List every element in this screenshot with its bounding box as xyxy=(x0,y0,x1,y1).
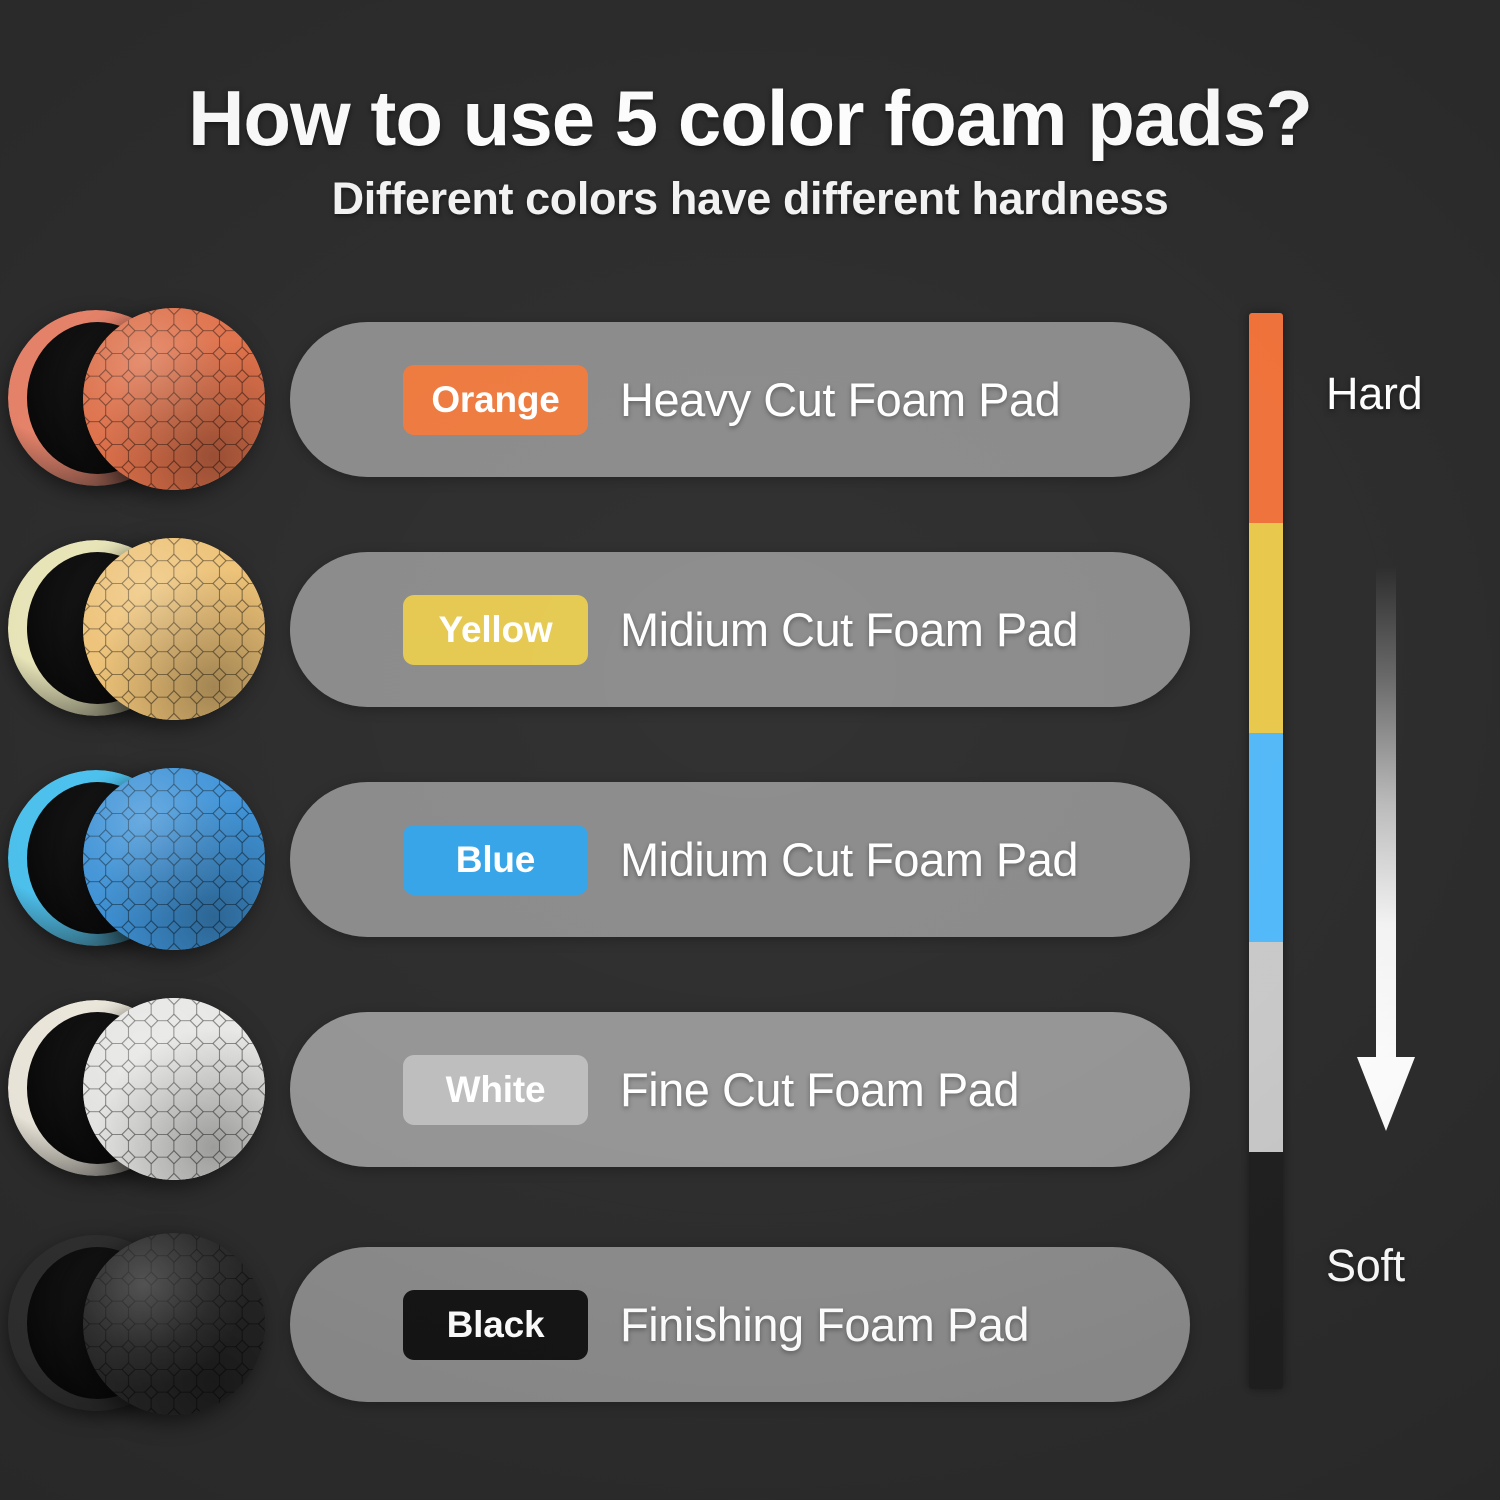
pad-row-pill: Yellow Midium Cut Foam Pad xyxy=(290,552,1190,707)
pad-row-blue: Blue Midium Cut Foam Pad xyxy=(0,760,1240,960)
color-badge-label: White xyxy=(446,1069,546,1111)
pad-front-disc xyxy=(83,308,265,490)
hardness-scale-bar xyxy=(1249,313,1283,1389)
pad-front-disc xyxy=(83,1233,265,1415)
scale-segment-orange xyxy=(1249,313,1283,523)
pad-name-label: Finishing Foam Pad xyxy=(620,1297,1029,1352)
pad-image-white xyxy=(0,990,300,1190)
scale-segment-blue xyxy=(1249,733,1283,943)
pad-name-label: Heavy Cut Foam Pad xyxy=(620,372,1060,427)
color-badge-yellow: Yellow xyxy=(403,595,588,665)
page-title: How to use 5 color foam pads? xyxy=(0,78,1500,159)
pad-name-label: Fine Cut Foam Pad xyxy=(620,1062,1019,1117)
color-badge-black: Black xyxy=(403,1290,588,1360)
scale-segment-yellow xyxy=(1249,523,1283,733)
pad-image-black xyxy=(0,1225,300,1425)
color-badge-label: Yellow xyxy=(439,609,553,651)
hardness-arrow-down-icon xyxy=(1327,565,1445,1140)
pad-row-pill: Blue Midium Cut Foam Pad xyxy=(290,782,1190,937)
pad-image-orange xyxy=(0,300,300,500)
pad-image-yellow xyxy=(0,530,300,730)
scale-segment-white xyxy=(1249,942,1283,1152)
color-badge-white: White xyxy=(403,1055,588,1125)
header: How to use 5 color foam pads? Different … xyxy=(0,78,1500,225)
pad-name-label: Midium Cut Foam Pad xyxy=(620,602,1078,657)
color-badge-label: Blue xyxy=(456,839,535,881)
pad-front-disc xyxy=(83,538,265,720)
color-badge-label: Orange xyxy=(431,379,559,421)
page-subtitle: Different colors have different hardness xyxy=(0,173,1500,225)
pad-front-disc xyxy=(83,768,265,950)
pad-name-label: Midium Cut Foam Pad xyxy=(620,832,1078,887)
scale-segment-black xyxy=(1249,1152,1283,1389)
color-badge-blue: Blue xyxy=(403,825,588,895)
pad-list: Orange Heavy Cut Foam Pad Yell xyxy=(0,300,1240,1420)
pad-row-white: White Fine Cut Foam Pad xyxy=(0,990,1240,1190)
pad-row-pill: Black Finishing Foam Pad xyxy=(290,1247,1190,1402)
pad-row-yellow: Yellow Midium Cut Foam Pad xyxy=(0,530,1240,730)
pad-row-pill: Orange Heavy Cut Foam Pad xyxy=(290,322,1190,477)
pad-row-orange: Orange Heavy Cut Foam Pad xyxy=(0,300,1240,500)
pad-front-disc xyxy=(83,998,265,1180)
color-badge-label: Black xyxy=(447,1304,545,1346)
color-badge-orange: Orange xyxy=(403,365,588,435)
pad-image-blue xyxy=(0,760,300,960)
pad-row-pill: White Fine Cut Foam Pad xyxy=(290,1012,1190,1167)
hardness-label-hard: Hard xyxy=(1326,368,1422,420)
pad-row-black: Black Finishing Foam Pad xyxy=(0,1225,1240,1425)
hardness-label-soft: Soft xyxy=(1326,1240,1405,1292)
